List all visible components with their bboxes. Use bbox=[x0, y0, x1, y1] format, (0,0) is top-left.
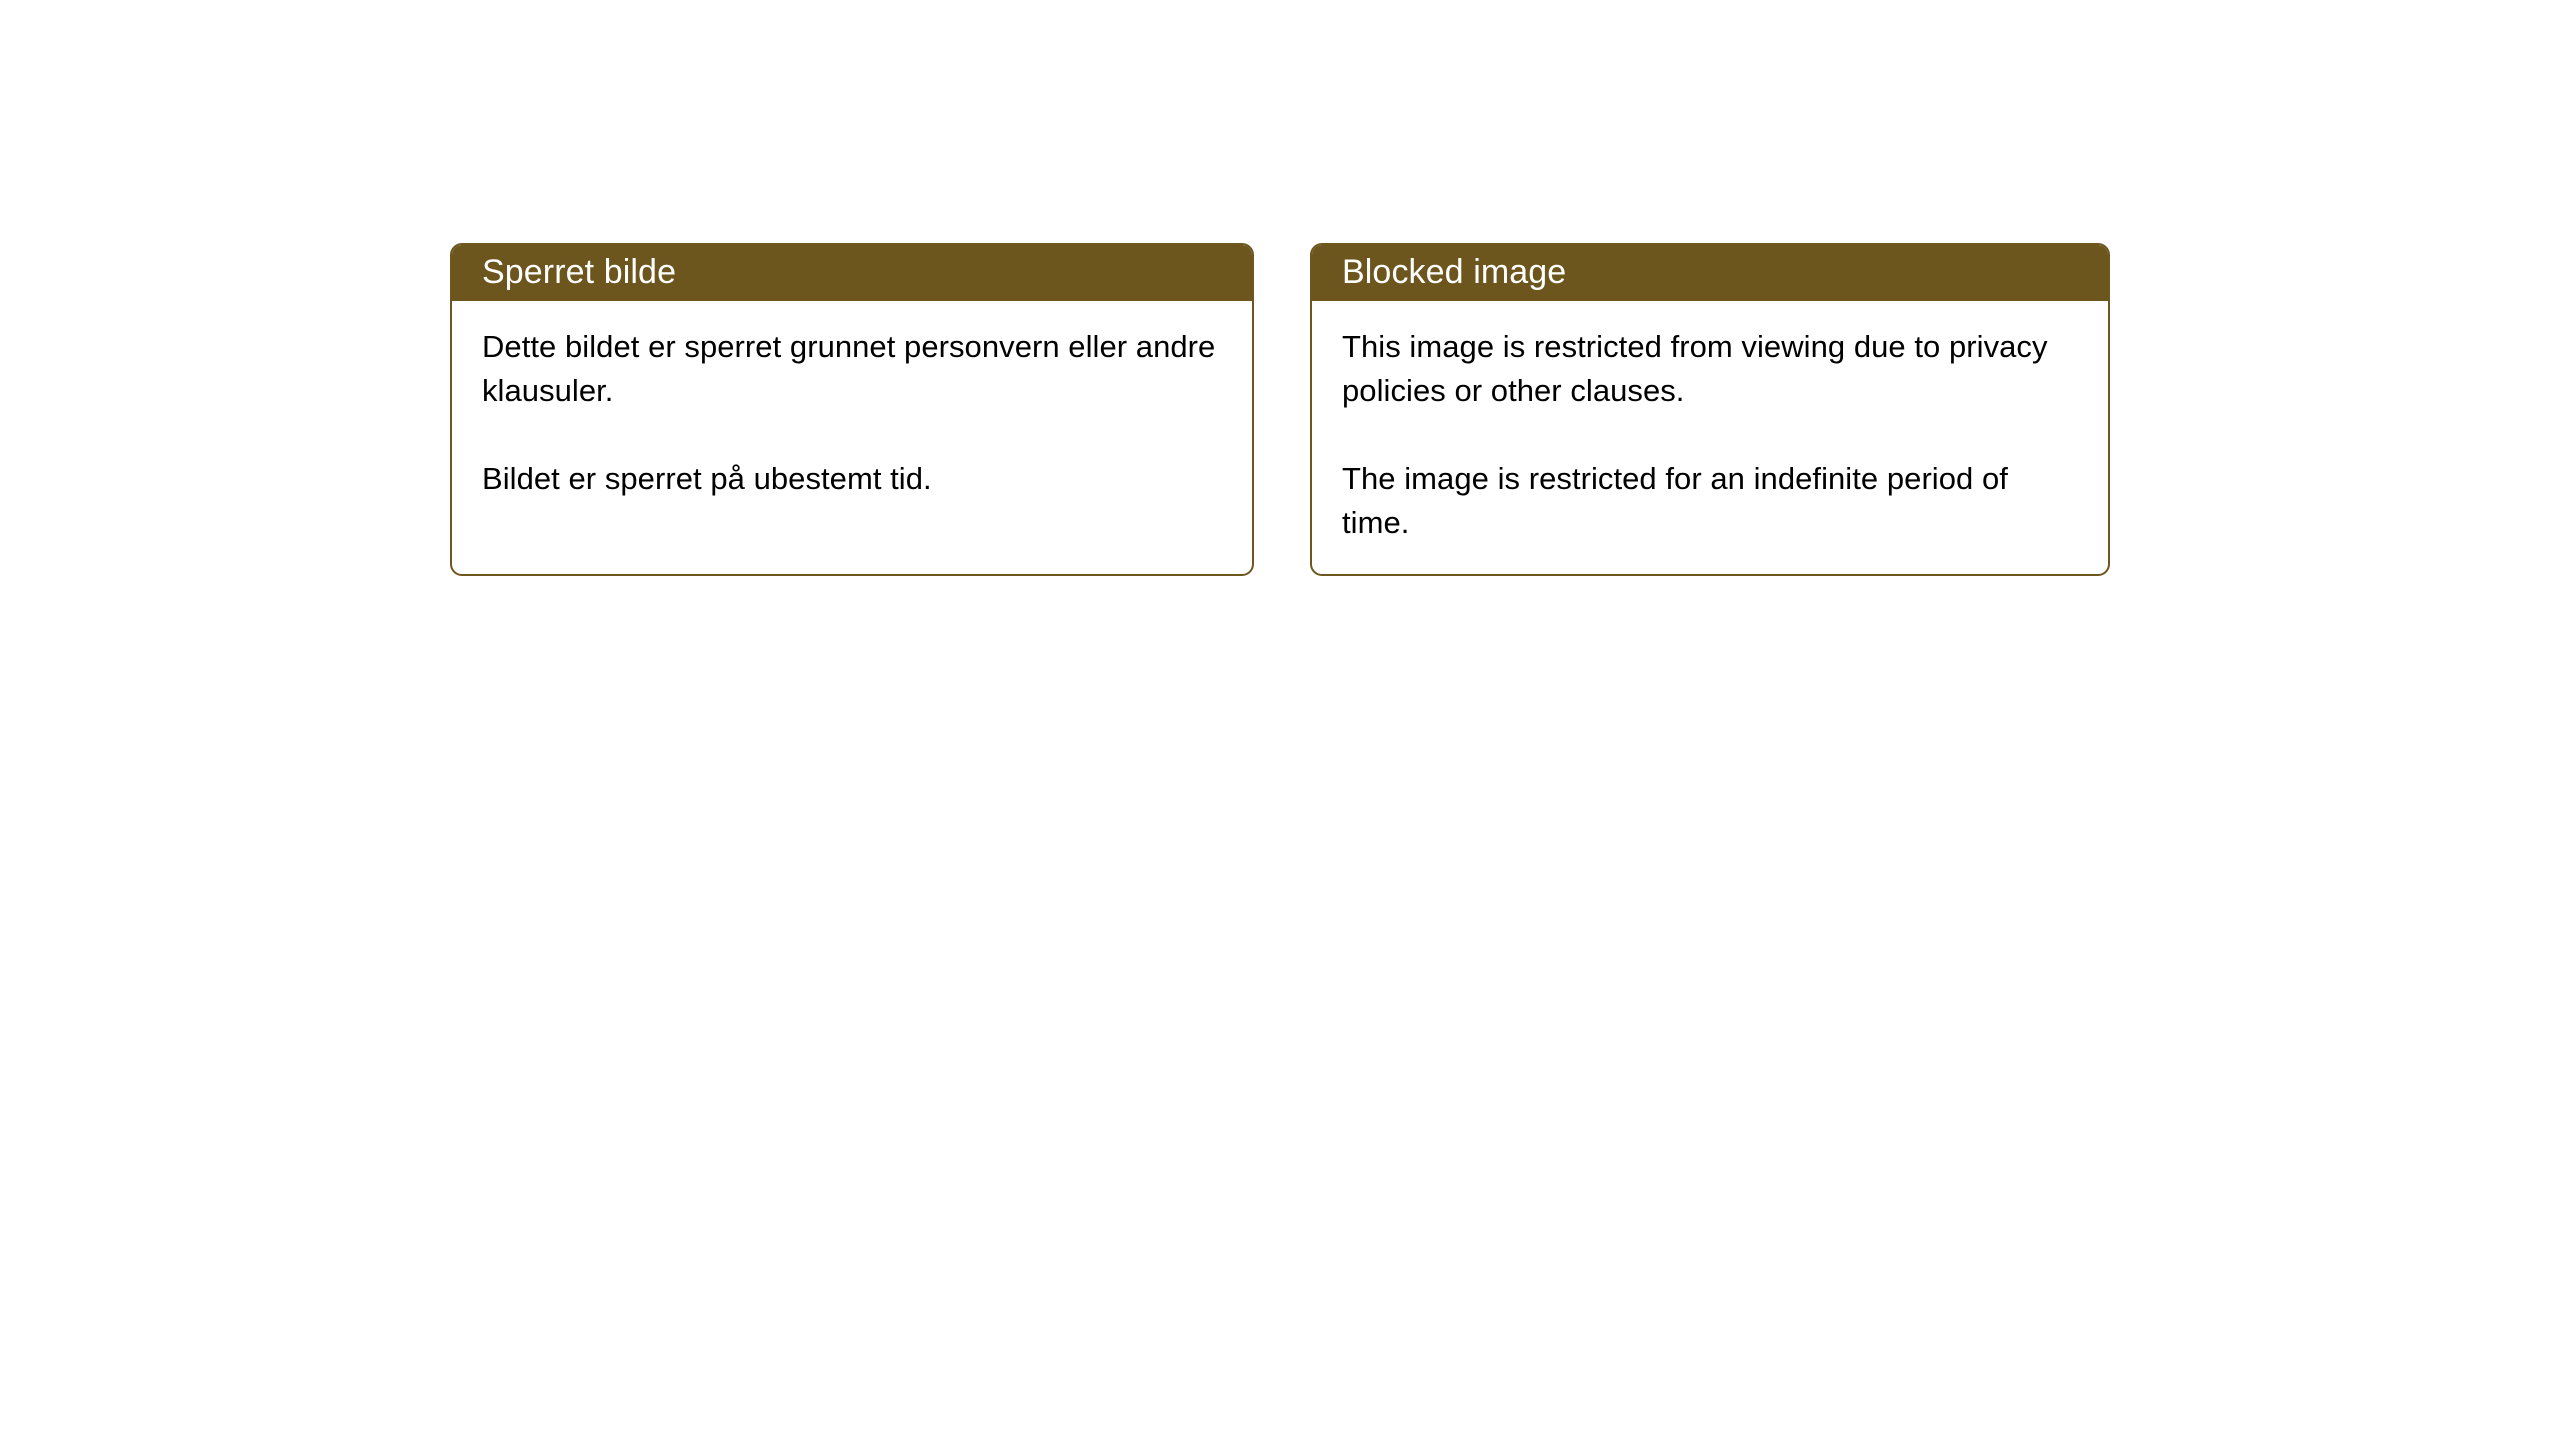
panel-header-no: Sperret bilde bbox=[450, 243, 1254, 301]
panel-paragraph-no-2: Bildet er sperret på ubestemt tid. bbox=[482, 457, 1222, 501]
panel-title-no: Sperret bilde bbox=[482, 253, 676, 291]
page-canvas: Sperret bilde Dette bildet er sperret gr… bbox=[0, 0, 2560, 1440]
panel-body-en: This image is restricted from viewing du… bbox=[1312, 301, 2108, 545]
panel-paragraph-en-1: This image is restricted from viewing du… bbox=[1342, 325, 2078, 413]
panel-paragraph-en-2: The image is restricted for an indefinit… bbox=[1342, 457, 2078, 545]
panel-body-no: Dette bildet er sperret grunnet personve… bbox=[452, 301, 1252, 501]
panel-header-en: Blocked image bbox=[1310, 243, 2110, 301]
panel-paragraph-no-1: Dette bildet er sperret grunnet personve… bbox=[482, 325, 1222, 413]
blocked-image-notice-no: Sperret bilde Dette bildet er sperret gr… bbox=[450, 243, 1254, 576]
panel-title-en: Blocked image bbox=[1342, 253, 1566, 291]
blocked-image-notice-en: Blocked image This image is restricted f… bbox=[1310, 243, 2110, 576]
